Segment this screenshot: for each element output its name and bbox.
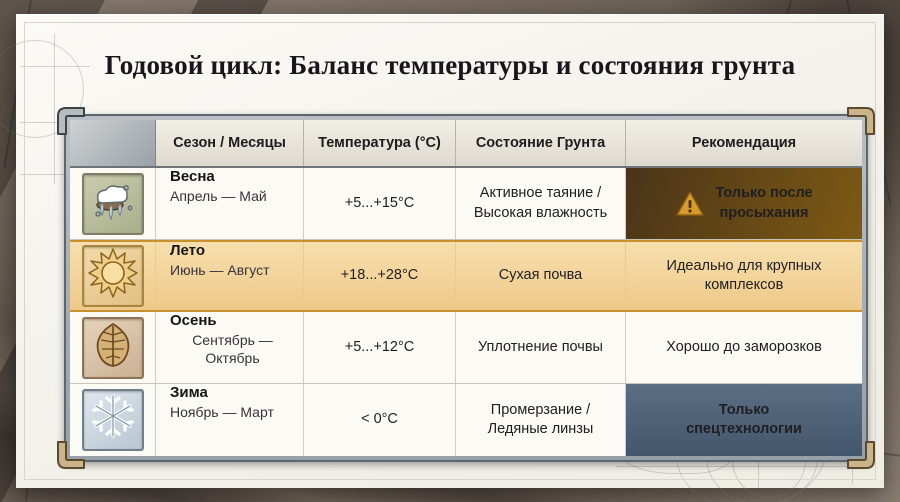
table-row[interactable]: Весна Апрель — Май +5...+15°C Активное т… [70, 168, 862, 240]
rec-line-2: спецтехнологии [686, 421, 802, 437]
page-title: Годовой цикл: Баланс температуры и состо… [16, 50, 884, 81]
corner-ornament-bottom-left [56, 440, 86, 470]
soil-line-2: Высокая влажность [474, 205, 607, 221]
season-name-cell: Осень Сентябрь — Октябрь [156, 312, 304, 383]
leaf-icon [82, 317, 144, 379]
header-season: Сезон / Месяцы [156, 120, 304, 166]
season-label: Лето [170, 242, 205, 261]
header-soil: Состояние Грунта [456, 120, 626, 166]
season-label: Зима [170, 384, 208, 403]
snowflake-icon [82, 389, 144, 451]
rec-line-1: Идеально для крупных [667, 258, 822, 274]
season-icon-cell [70, 168, 156, 239]
soil-cell: Промерзание / Ледяные линзы [456, 384, 626, 456]
soil-cell: Активное таяние / Высокая влажность [456, 168, 626, 239]
season-icon-cell [70, 312, 156, 383]
warning-triangle-icon [675, 190, 705, 218]
recommendation-cell: Идеально для крупных комплексов [626, 242, 862, 310]
season-months: Сентябрь — Октябрь [170, 331, 295, 367]
slide-root: Годовой цикл: Баланс температуры и состо… [0, 0, 900, 502]
rec-line-1: Только после [715, 185, 812, 201]
rec-line-2: комплексов [705, 277, 784, 293]
season-table-frame: Сезон / Месяцы Температура (°C) Состояни… [64, 114, 868, 462]
season-label: Осень [170, 312, 217, 331]
sun-icon [82, 245, 144, 307]
table-row[interactable]: Осень Сентябрь — Октябрь +5...+12°C Упло… [70, 312, 862, 384]
season-name-cell: Весна Апрель — Май [156, 168, 304, 239]
season-table: Сезон / Месяцы Температура (°C) Состояни… [70, 120, 862, 456]
soil-line-1: Промерзание / [491, 402, 590, 418]
melting-snow-icon [82, 173, 144, 235]
rec-line-1: Только [719, 402, 770, 418]
paper-card: Годовой цикл: Баланс температуры и состо… [16, 14, 884, 488]
temperature-cell: +5...+15°C [304, 168, 456, 239]
corner-ornament-top-right [846, 106, 876, 136]
soil-line-1: Активное таяние / [480, 185, 601, 201]
header-recommendation: Рекомендация [626, 120, 862, 166]
header-temperature: Температура (°C) [304, 120, 456, 166]
soil-line-2: Ледяные линзы [488, 421, 594, 437]
table-row[interactable]: Лето Июнь — Август +18...+28°C Сухая поч… [70, 240, 862, 312]
soil-cell: Сухая почва [456, 242, 626, 310]
season-name-cell: Лето Июнь — Август [156, 242, 304, 310]
rec-line-2: просыхания [720, 205, 809, 221]
soil-cell: Уплотнение почвы [456, 312, 626, 383]
season-name-cell: Зима Ноябрь — Март [156, 384, 304, 456]
table-row[interactable]: Зима Ноябрь — Март < 0°C Промерзание / Л… [70, 384, 862, 456]
table-header-row: Сезон / Месяцы Температура (°C) Состояни… [70, 120, 862, 168]
temperature-cell: +18...+28°C [304, 242, 456, 310]
season-label: Весна [170, 168, 215, 187]
season-months: Апрель — Май [170, 187, 267, 205]
season-icon-cell [70, 242, 156, 310]
corner-ornament-top-left [56, 106, 86, 136]
recommendation-cell: Только спецтехнологии [626, 384, 862, 456]
recommendation-cell: Хорошо до заморозков [626, 312, 862, 383]
season-months: Ноябрь — Март [170, 403, 274, 421]
season-months: Июнь — Август [170, 261, 270, 279]
recommendation-cell: Только после просыхания [626, 168, 862, 239]
temperature-cell: < 0°C [304, 384, 456, 456]
temperature-cell: +5...+12°C [304, 312, 456, 383]
corner-ornament-bottom-right [846, 440, 876, 470]
